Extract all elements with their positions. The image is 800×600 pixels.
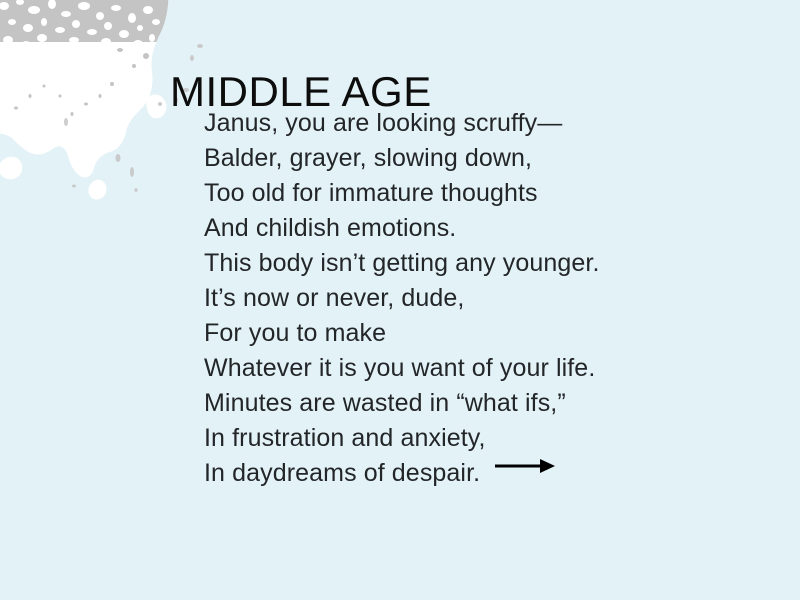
poem-line: Too old for immature thoughts — [204, 176, 764, 211]
poem-line-text: For you to make — [204, 316, 386, 351]
poem-line: And childish emotions. — [204, 211, 764, 246]
poem-line-text: In frustration and anxiety, — [204, 421, 486, 456]
poem-line: It’s now or never, dude, — [204, 281, 764, 316]
poem-line-text: Janus, you are looking scruffy— — [204, 106, 562, 141]
poem-line-text: Whatever it is you want of your life. — [204, 351, 595, 386]
poem-line: Janus, you are looking scruffy— — [204, 106, 764, 141]
poem-line-with-arrow: In daydreams of despair. — [204, 456, 764, 491]
poem-line: This body isn’t getting any younger. — [204, 246, 764, 281]
poem-line: Balder, grayer, slowing down, — [204, 141, 764, 176]
stray-specks — [64, 44, 203, 192]
poem-line: Minutes are wasted in “what ifs,” — [204, 386, 764, 421]
poem-line-text: Too old for immature thoughts — [204, 176, 538, 211]
poem-line: For you to make — [204, 316, 764, 351]
poem-body: Janus, you are looking scruffy— Balder, … — [204, 106, 764, 491]
poem-line-text: This body isn’t getting any younger. — [204, 246, 600, 281]
poem-line-text: Minutes are wasted in “what ifs,” — [204, 386, 566, 421]
right-arrow-icon — [494, 458, 556, 474]
poem-line: In frustration and anxiety, — [204, 421, 764, 456]
gray-speckle-texture — [0, 0, 180, 116]
slide-canvas: MIDDLE AGE Janus, you are looking scruff… — [0, 0, 800, 600]
white-paint-blob — [0, 0, 169, 199]
poem-line-text: Balder, grayer, slowing down, — [204, 141, 532, 176]
poem-line-text: And childish emotions. — [204, 211, 456, 246]
poem-line: Whatever it is you want of your life. — [204, 351, 764, 386]
poem-line-text: In daydreams of despair. — [204, 456, 480, 491]
poem-line-text: It’s now or never, dude, — [204, 281, 464, 316]
